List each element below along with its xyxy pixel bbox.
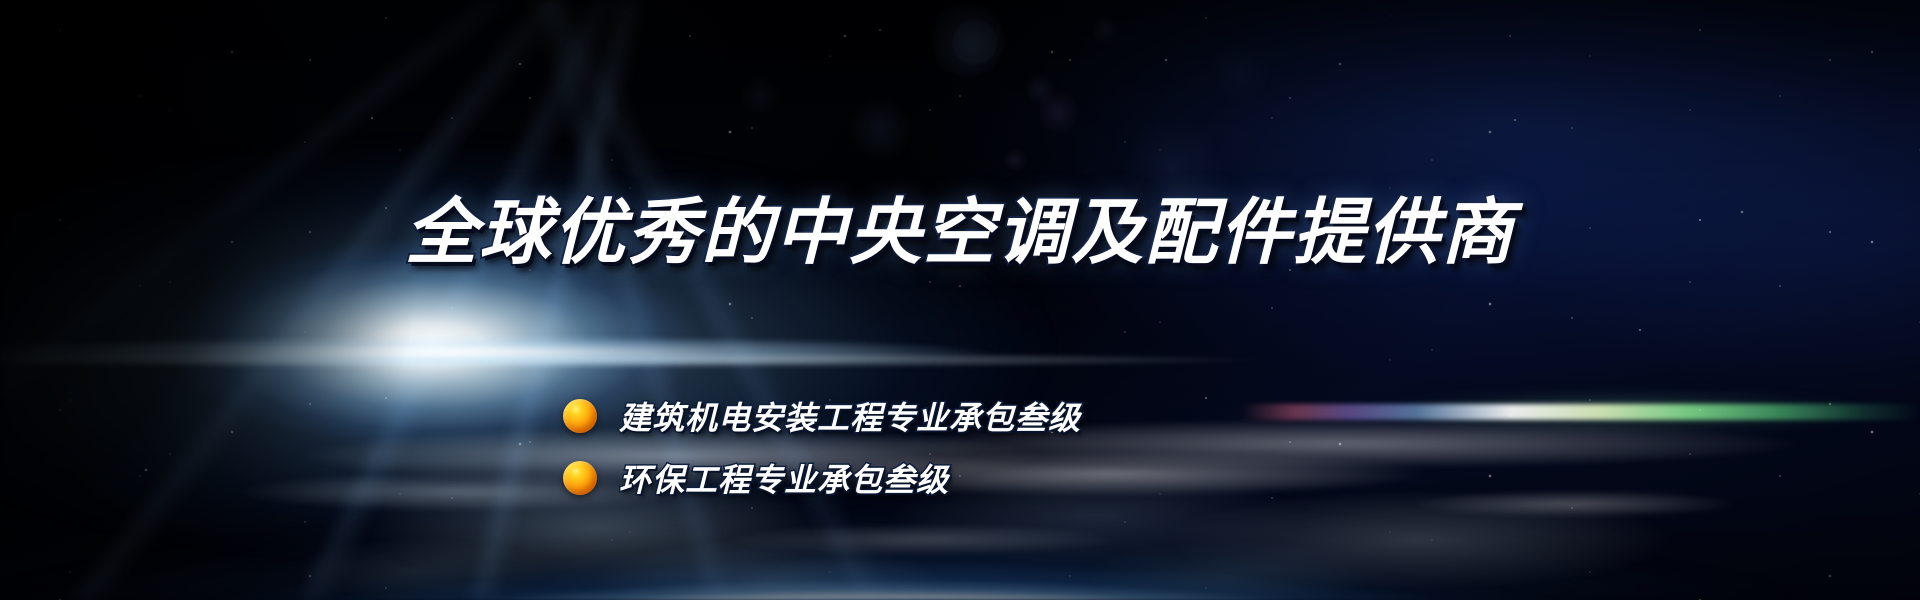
bullet-item-construction: 建筑机电安装工程专业承包叁级 [563,390,1081,442]
banner-headline: 全球优秀的中央空调及配件提供商 [0,196,1920,268]
banner-bullet-list: 建筑机电安装工程专业承包叁级 环保工程专业承包叁级 [563,390,1081,514]
hero-banner: 全球优秀的中央空调及配件提供商 建筑机电安装工程专业承包叁级 环保工程专业承包叁… [0,0,1920,600]
orange-dot-icon [563,399,597,433]
banner-content: 全球优秀的中央空调及配件提供商 建筑机电安装工程专业承包叁级 环保工程专业承包叁… [0,0,1920,600]
orange-dot-icon [563,461,597,495]
bullet-label-construction: 建筑机电安装工程专业承包叁级 [619,393,1081,439]
bullet-item-environmental: 环保工程专业承包叁级 [563,452,1081,504]
bullet-label-environmental: 环保工程专业承包叁级 [619,455,949,501]
